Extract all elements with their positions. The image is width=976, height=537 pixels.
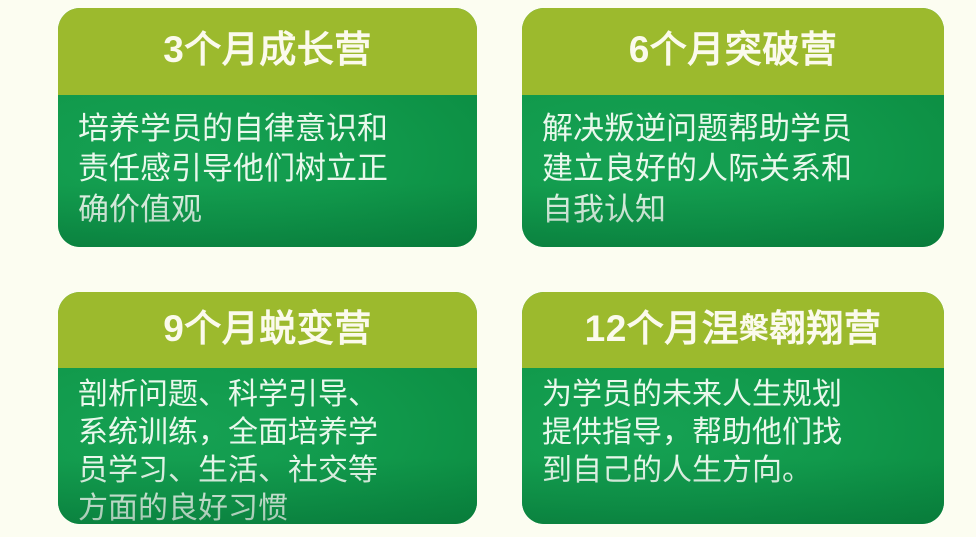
- card-description-camp-6-month: 解决叛逆问题帮助学员 建立良好的人际关系和 自我认知: [542, 109, 926, 230]
- card-description-camp-9-month: 剖析问题、科学引导、 系统训练，全面培养学 员学习、生活、社交等 方面的良好习惯: [78, 376, 459, 524]
- card-title-camp-3-month: 3个月成长营: [163, 31, 372, 68]
- card-body-camp-3-month: 培养学员的自律意识和 责任感引导他们树立正 确价值观: [58, 95, 477, 247]
- card-description-camp-3-month: 培养学员的自律意识和 责任感引导他们树立正 确价值观: [78, 109, 459, 230]
- card-title-part-2: 翱翔营: [769, 308, 882, 349]
- card-camp-6-month[interactable]: 6个月突破营 解决叛逆问题帮助学员 建立良好的人际关系和 自我认知: [522, 8, 944, 247]
- card-body-camp-9-month: 剖析问题、科学引导、 系统训练，全面培养学 员学习、生活、社交等 方面的良好习惯: [58, 368, 477, 524]
- card-title-camp-12-month: 12个月涅槃翱翔营: [585, 310, 882, 347]
- card-header-camp-12-month: 12个月涅槃翱翔营: [522, 292, 944, 368]
- card-header-camp-3-month: 3个月成长营: [58, 8, 477, 95]
- card-description-camp-12-month: 为学员的未来人生规划 提供指导，帮助他们找 到自己的人生方向。: [542, 376, 926, 490]
- card-camp-3-month[interactable]: 3个月成长营 培养学员的自律意识和 责任感引导他们树立正 确价值观: [58, 8, 477, 247]
- card-title-part-1: 12个月涅: [585, 308, 740, 349]
- card-body-camp-12-month: 为学员的未来人生规划 提供指导，帮助他们找 到自己的人生方向。: [522, 368, 944, 524]
- card-header-camp-9-month: 9个月蜕变营: [58, 292, 477, 368]
- card-grid: 3个月成长营 培养学员的自律意识和 责任感引导他们树立正 确价值观 6个月突破营…: [0, 0, 976, 537]
- card-camp-9-month[interactable]: 9个月蜕变营 剖析问题、科学引导、 系统训练，全面培养学 员学习、生活、社交等 …: [58, 292, 477, 524]
- card-camp-12-month[interactable]: 12个月涅槃翱翔营 为学员的未来人生规划 提供指导，帮助他们找 到自己的人生方向…: [522, 292, 944, 524]
- card-title-alt-glyph: 槃: [739, 311, 769, 345]
- card-title-camp-9-month: 9个月蜕变营: [163, 310, 372, 347]
- card-title-camp-6-month: 6个月突破营: [629, 31, 838, 68]
- card-body-camp-6-month: 解决叛逆问题帮助学员 建立良好的人际关系和 自我认知: [522, 95, 944, 247]
- card-header-camp-6-month: 6个月突破营: [522, 8, 944, 95]
